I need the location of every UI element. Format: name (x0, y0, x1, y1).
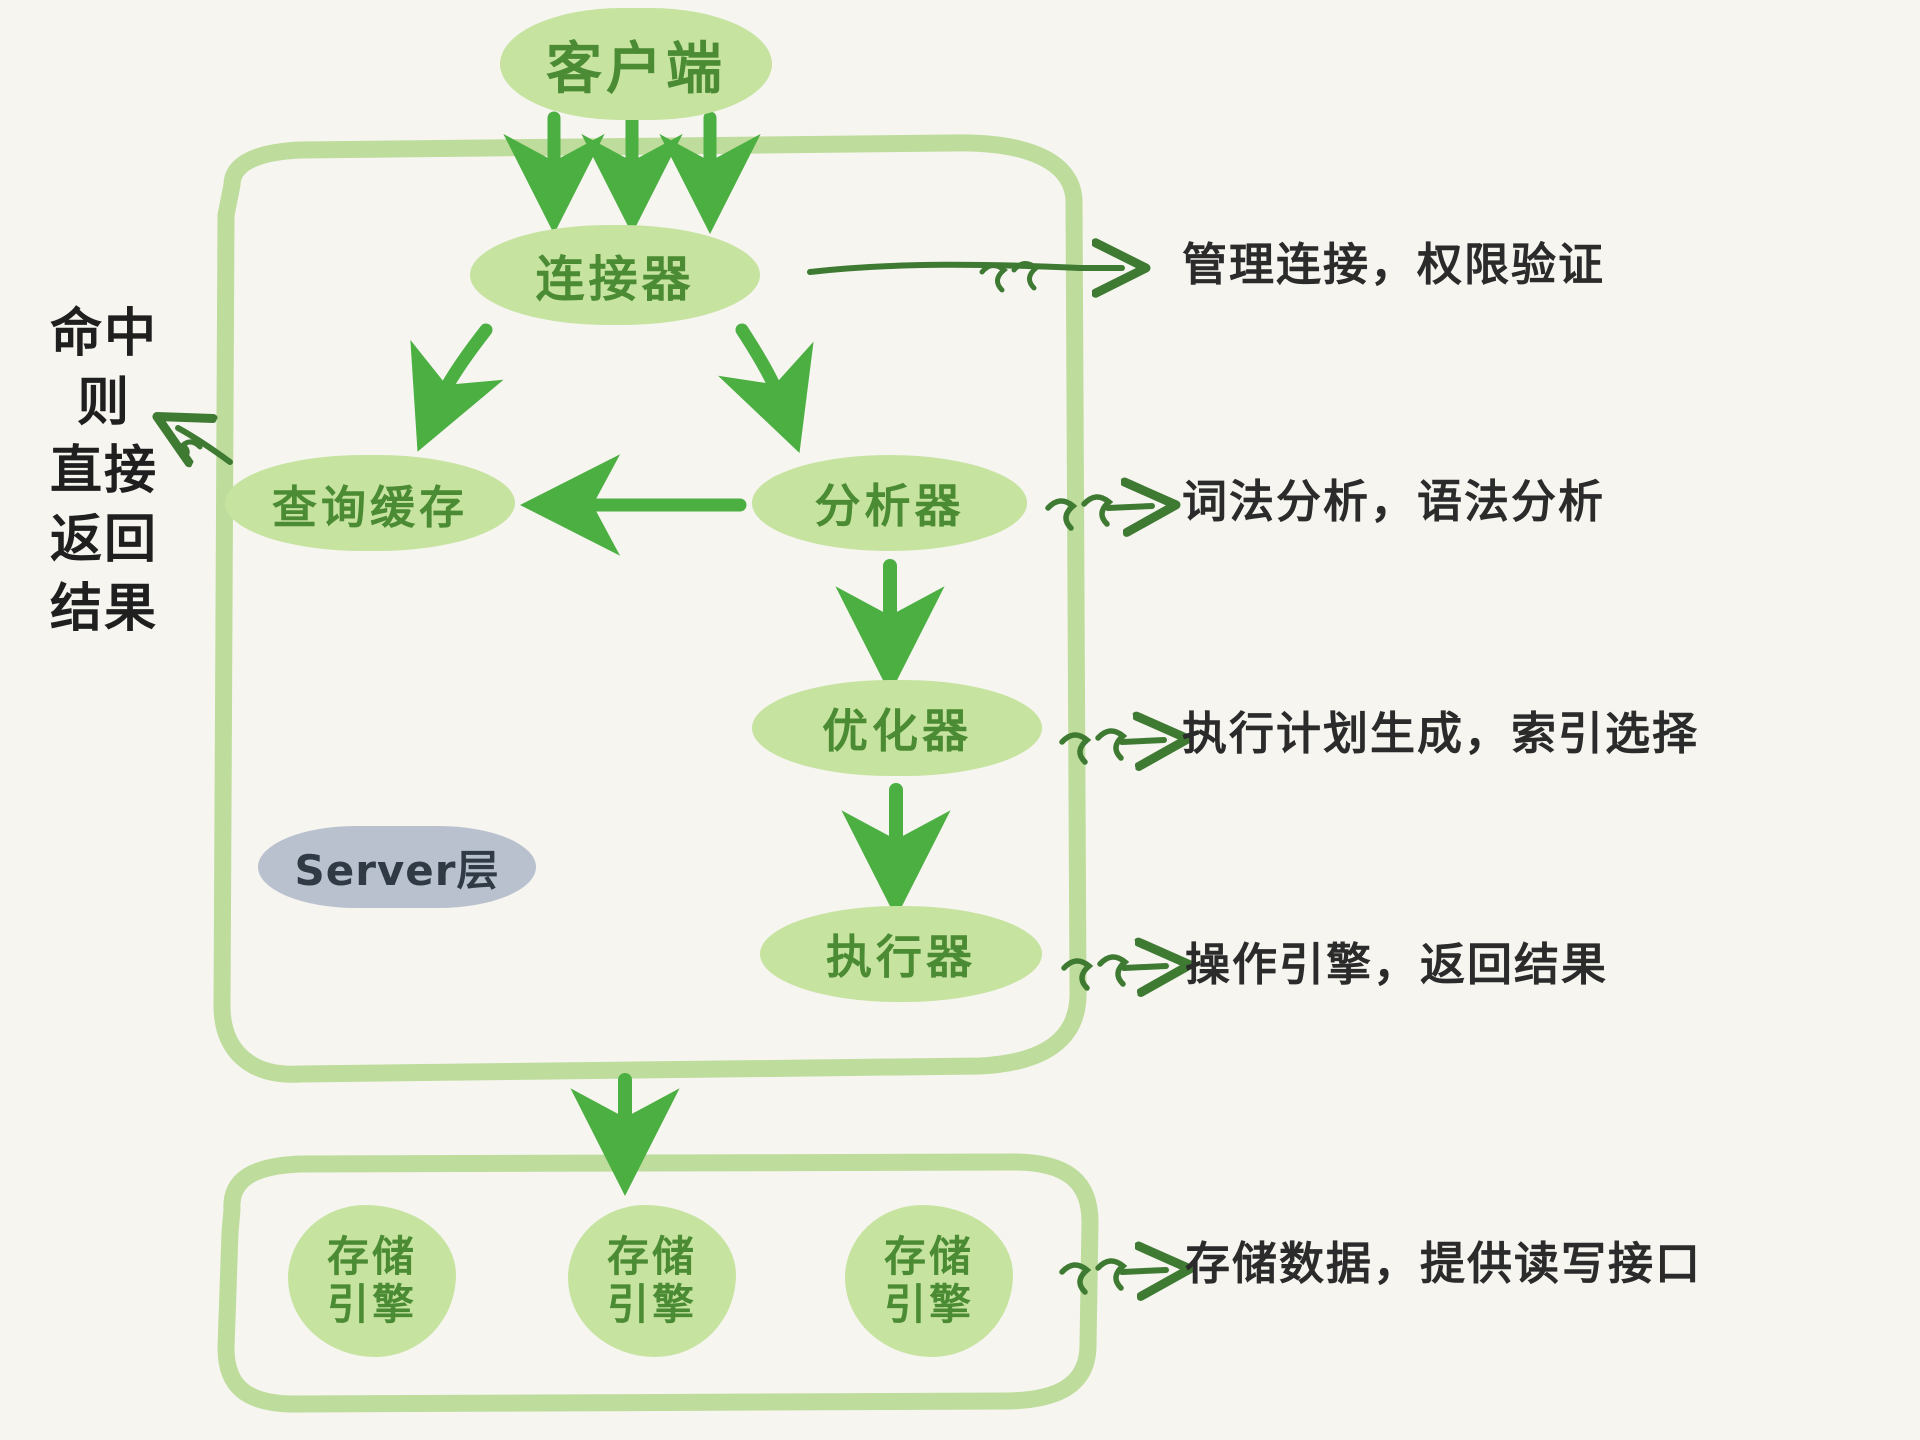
storage-engine-label-line1: 存储 (327, 1235, 417, 1279)
squiggle-parser-annotation (1048, 497, 1152, 528)
arrow-client-to-server (554, 118, 710, 182)
storage-engine-label-line2: 引擎 (884, 1283, 974, 1327)
node-connector[interactable]: 连接器 (470, 225, 760, 325)
squiggle-connector-annotation (810, 263, 1122, 290)
annotation-executor: 操作引擎，返回结果 (1185, 928, 1608, 993)
left-note-line-4: 返回 (34, 506, 174, 575)
annotation-connector: 管理连接，权限验证 (1182, 228, 1605, 293)
left-note-line-1: 命中 (34, 300, 174, 369)
node-storage-engine-3[interactable]: 存储 引擎 (845, 1205, 1013, 1357)
left-note-line-5: 结果 (34, 575, 174, 644)
arrow-connector-to-cache (438, 330, 486, 404)
annotation-optimizer: 执行计划生成，索引选择 (1182, 697, 1699, 762)
left-note-line-2: 则 (34, 369, 174, 438)
left-note-line-3: 直接 (34, 437, 174, 506)
node-executor[interactable]: 执行器 (760, 906, 1042, 1002)
storage-engine-label-line2: 引擎 (327, 1283, 417, 1327)
squiggle-executor-annotation (1064, 957, 1166, 988)
storage-engine-label-line1: 存储 (607, 1235, 697, 1279)
node-storage-engine-2[interactable]: 存储 引擎 (568, 1205, 736, 1357)
node-storage-engine-1[interactable]: 存储 引擎 (288, 1205, 456, 1357)
left-note-cache-hit: 命中 则 直接 返回 结果 (34, 300, 174, 643)
storage-engine-label-line1: 存储 (884, 1235, 974, 1279)
label-server-layer: Server层 (258, 826, 536, 908)
annotation-parser: 词法分析，语法分析 (1182, 465, 1605, 530)
node-parser[interactable]: 分析器 (752, 455, 1027, 551)
diagram-canvas: 客户端 连接器 查询缓存 分析器 优化器 执行器 Server层 存储 引擎 存… (0, 0, 1920, 1440)
squiggle-storage-annotation (1062, 1261, 1166, 1292)
node-query-cache[interactable]: 查询缓存 (225, 455, 515, 551)
arrow-cache-to-left-note (178, 428, 230, 462)
arrow-connector-to-parser (742, 330, 782, 404)
node-optimizer[interactable]: 优化器 (752, 680, 1042, 776)
squiggle-optimizer-annotation (1062, 731, 1164, 762)
storage-engine-label-line2: 引擎 (607, 1283, 697, 1327)
node-client[interactable]: 客户端 (500, 8, 772, 120)
annotation-storage-engine: 存储数据，提供读写接口 (1185, 1227, 1702, 1292)
